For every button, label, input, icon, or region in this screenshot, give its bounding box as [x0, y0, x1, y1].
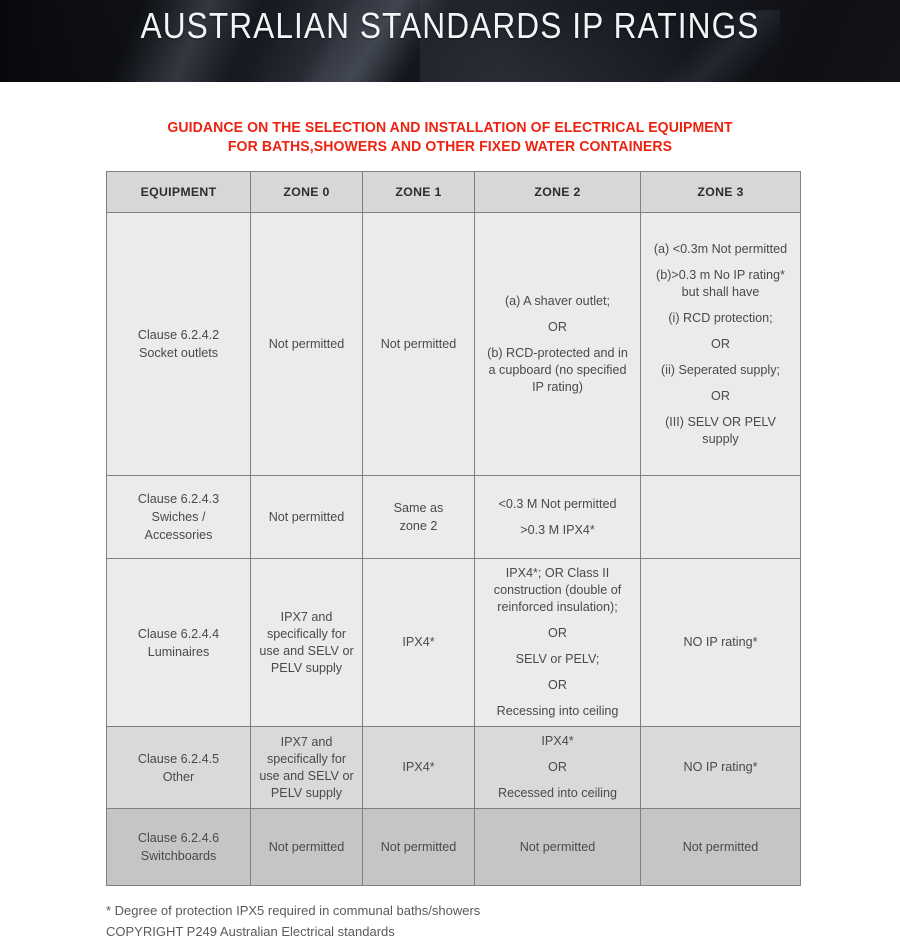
cell-line: Recessing into ceiling: [482, 703, 633, 720]
cell-zone-3: NO IP rating*: [641, 559, 801, 727]
table-header-row: EQUIPMENT ZONE 0 ZONE 1 ZONE 2 ZONE 3: [107, 172, 801, 213]
cell-zone-1: Not permitted: [363, 213, 475, 476]
footnote-ipx5: * Degree of protection IPX5 required in …: [106, 900, 900, 921]
equipment-name: Other: [114, 768, 243, 786]
cell-equipment: Clause 6.2.4.6 Switchboards: [107, 809, 251, 886]
cell-line: (i) RCD protection;: [648, 310, 793, 327]
cell-line: OR: [482, 625, 633, 642]
equipment-name-2: Accessories: [114, 526, 243, 544]
equipment-clause: Clause 6.2.4.4: [114, 625, 243, 643]
cell-line: OR: [648, 336, 793, 353]
cell-line: Recessed into ceiling: [482, 785, 633, 802]
footnotes: * Degree of protection IPX5 required in …: [106, 900, 900, 942]
equipment-clause: Clause 6.2.4.2: [114, 326, 243, 344]
table-row: Clause 6.2.4.5 Other IPX7 and specifical…: [107, 727, 801, 809]
equipment-clause: Clause 6.2.4.5: [114, 750, 243, 768]
cell-equipment: Clause 6.2.4.2 Socket outlets: [107, 213, 251, 476]
column-header-zone-1: ZONE 1: [363, 172, 475, 213]
cell-zone-2: (a) A shaver outlet; OR (b) RCD-protecte…: [475, 213, 641, 476]
cell-zone-0: Not permitted: [251, 213, 363, 476]
cell-zone-1: IPX4*: [363, 727, 475, 809]
table-row: Clause 6.2.4.6 Switchboards Not permitte…: [107, 809, 801, 886]
equipment-clause: Clause 6.2.4.3: [114, 490, 243, 508]
cell-line: OR: [482, 319, 633, 336]
cell-line: (a) <0.3m Not permitted: [648, 241, 793, 258]
table-body: Clause 6.2.4.2 Socket outlets Not permit…: [107, 213, 801, 886]
ip-ratings-table-container: EQUIPMENT ZONE 0 ZONE 1 ZONE 2 ZONE 3 Cl…: [106, 171, 800, 886]
footnote-copyright: COPYRIGHT P249 Australian Electrical sta…: [106, 921, 900, 942]
cell-line: (III) SELV OR PELV supply: [648, 414, 793, 448]
cell-zone-3: Not permitted: [641, 809, 801, 886]
cell-line: zone 2: [370, 517, 467, 535]
cell-zone-0: IPX7 and specifically for use and SELV o…: [251, 727, 363, 809]
equipment-name: Socket outlets: [114, 344, 243, 362]
equipment-name: Switchboards: [114, 847, 243, 865]
equipment-clause: Clause 6.2.4.6: [114, 829, 243, 847]
document-heading-line-2: FOR BATHS,SHOWERS AND OTHER FIXED WATER …: [14, 138, 887, 157]
cell-zone-2: IPX4*; OR Class II construction (double …: [475, 559, 641, 727]
cell-line: <0.3 M Not permitted: [482, 496, 633, 513]
table-row: Clause 6.2.4.4 Luminaires IPX7 and speci…: [107, 559, 801, 727]
column-header-zone-2: ZONE 2: [475, 172, 641, 213]
cell-line: OR: [482, 759, 633, 776]
cell-line: (ii) Seperated supply;: [648, 362, 793, 379]
cell-zone-3: (a) <0.3m Not permitted (b)>0.3 m No IP …: [641, 213, 801, 476]
equipment-name: Swiches /: [114, 508, 243, 526]
cell-equipment: Clause 6.2.4.5 Other: [107, 727, 251, 809]
cell-equipment: Clause 6.2.4.3 Swiches / Accessories: [107, 476, 251, 559]
ip-ratings-table: EQUIPMENT ZONE 0 ZONE 1 ZONE 2 ZONE 3 Cl…: [106, 171, 801, 886]
column-header-zone-3: ZONE 3: [641, 172, 801, 213]
cell-line: SELV or PELV;: [482, 651, 633, 668]
cell-zone-0: IPX7 and specifically for use and SELV o…: [251, 559, 363, 727]
cell-zone-1: Same as zone 2: [363, 476, 475, 559]
cell-line: (b) RCD-protected and in a cupboard (no …: [482, 345, 633, 396]
cell-zone-1: Not permitted: [363, 809, 475, 886]
column-header-zone-0: ZONE 0: [251, 172, 363, 213]
cell-equipment: Clause 6.2.4.4 Luminaires: [107, 559, 251, 727]
page-banner: AUSTRALIAN STANDARDS IP RATINGS: [0, 0, 900, 82]
cell-zone-2: <0.3 M Not permitted >0.3 M IPX4*: [475, 476, 641, 559]
table-header: EQUIPMENT ZONE 0 ZONE 1 ZONE 2 ZONE 3: [107, 172, 801, 213]
cell-line: (b)>0.3 m No IP rating* but shall have: [648, 267, 793, 301]
cell-line: Same as: [370, 499, 467, 517]
cell-zone-3: NO IP rating*: [641, 727, 801, 809]
page-title: AUSTRALIAN STANDARDS IP RATINGS: [54, 5, 846, 47]
column-header-equipment: EQUIPMENT: [107, 172, 251, 213]
cell-zone-1: IPX4*: [363, 559, 475, 727]
cell-zone-3: [641, 476, 801, 559]
cell-line: OR: [648, 388, 793, 405]
cell-zone-0: Not permitted: [251, 809, 363, 886]
cell-zone-2: Not permitted: [475, 809, 641, 886]
cell-zone-2: IPX4* OR Recessed into ceiling: [475, 727, 641, 809]
cell-line: >0.3 M IPX4*: [482, 522, 633, 539]
table-row: Clause 6.2.4.3 Swiches / Accessories Not…: [107, 476, 801, 559]
table-row: Clause 6.2.4.2 Socket outlets Not permit…: [107, 213, 801, 476]
cell-zone-0: Not permitted: [251, 476, 363, 559]
cell-line: IPX4*: [482, 733, 633, 750]
document-heading: GUIDANCE ON THE SELECTION AND INSTALLATI…: [14, 119, 887, 157]
document-heading-line-1: GUIDANCE ON THE SELECTION AND INSTALLATI…: [14, 119, 887, 138]
cell-line: IPX4*; OR Class II construction (double …: [482, 565, 633, 616]
equipment-name: Luminaires: [114, 643, 243, 661]
cell-line: (a) A shaver outlet;: [482, 293, 633, 310]
cell-line: OR: [482, 677, 633, 694]
